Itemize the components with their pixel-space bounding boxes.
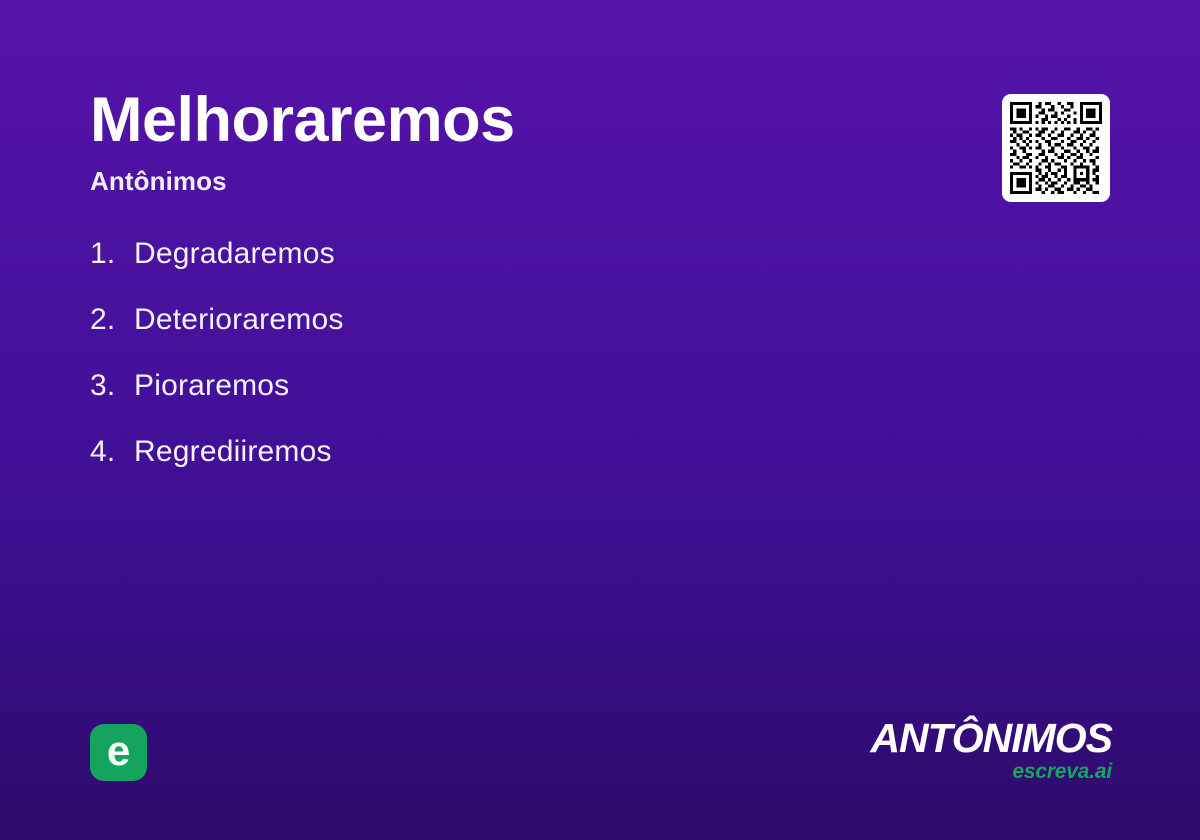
list-item: 2. Deterioraremos [90,303,850,369]
list-item: 4. Regrediiremos [90,435,850,501]
qr-code-icon[interactable] [1002,94,1110,202]
brand-wordmark: ANTÔNIMOS escreva.ai [870,718,1112,782]
page-title: Melhoraremos [90,88,950,152]
antonym-list: 1. Degradaremos 2. Deterioraremos 3. Pio… [90,237,850,501]
brand-mark-letter: e [90,724,147,781]
list-item-word: Pioraremos [134,369,289,403]
list-item: 1. Degradaremos [90,237,850,303]
wordmark-domain: escreva.ai [870,761,1112,782]
list-item-index: 3. [90,369,134,403]
list-item-word: Regrediiremos [134,435,332,469]
escreva-e-logo-icon[interactable]: e [90,724,147,781]
list-item-word: Deterioraremos [134,303,344,337]
list-item: 3. Pioraremos [90,369,850,435]
card-header: Melhoraremos Antônimos [90,88,950,197]
wordmark-title: ANTÔNIMOS [870,718,1112,759]
list-item-index: 4. [90,435,134,469]
list-item-index: 1. [90,237,134,271]
antonyms-card: Melhoraremos Antônimos 1. Degradaremos 2… [0,0,1200,840]
list-item-index: 2. [90,303,134,337]
list-item-word: Degradaremos [134,237,335,271]
page-subtitle: Antônimos [90,166,950,197]
